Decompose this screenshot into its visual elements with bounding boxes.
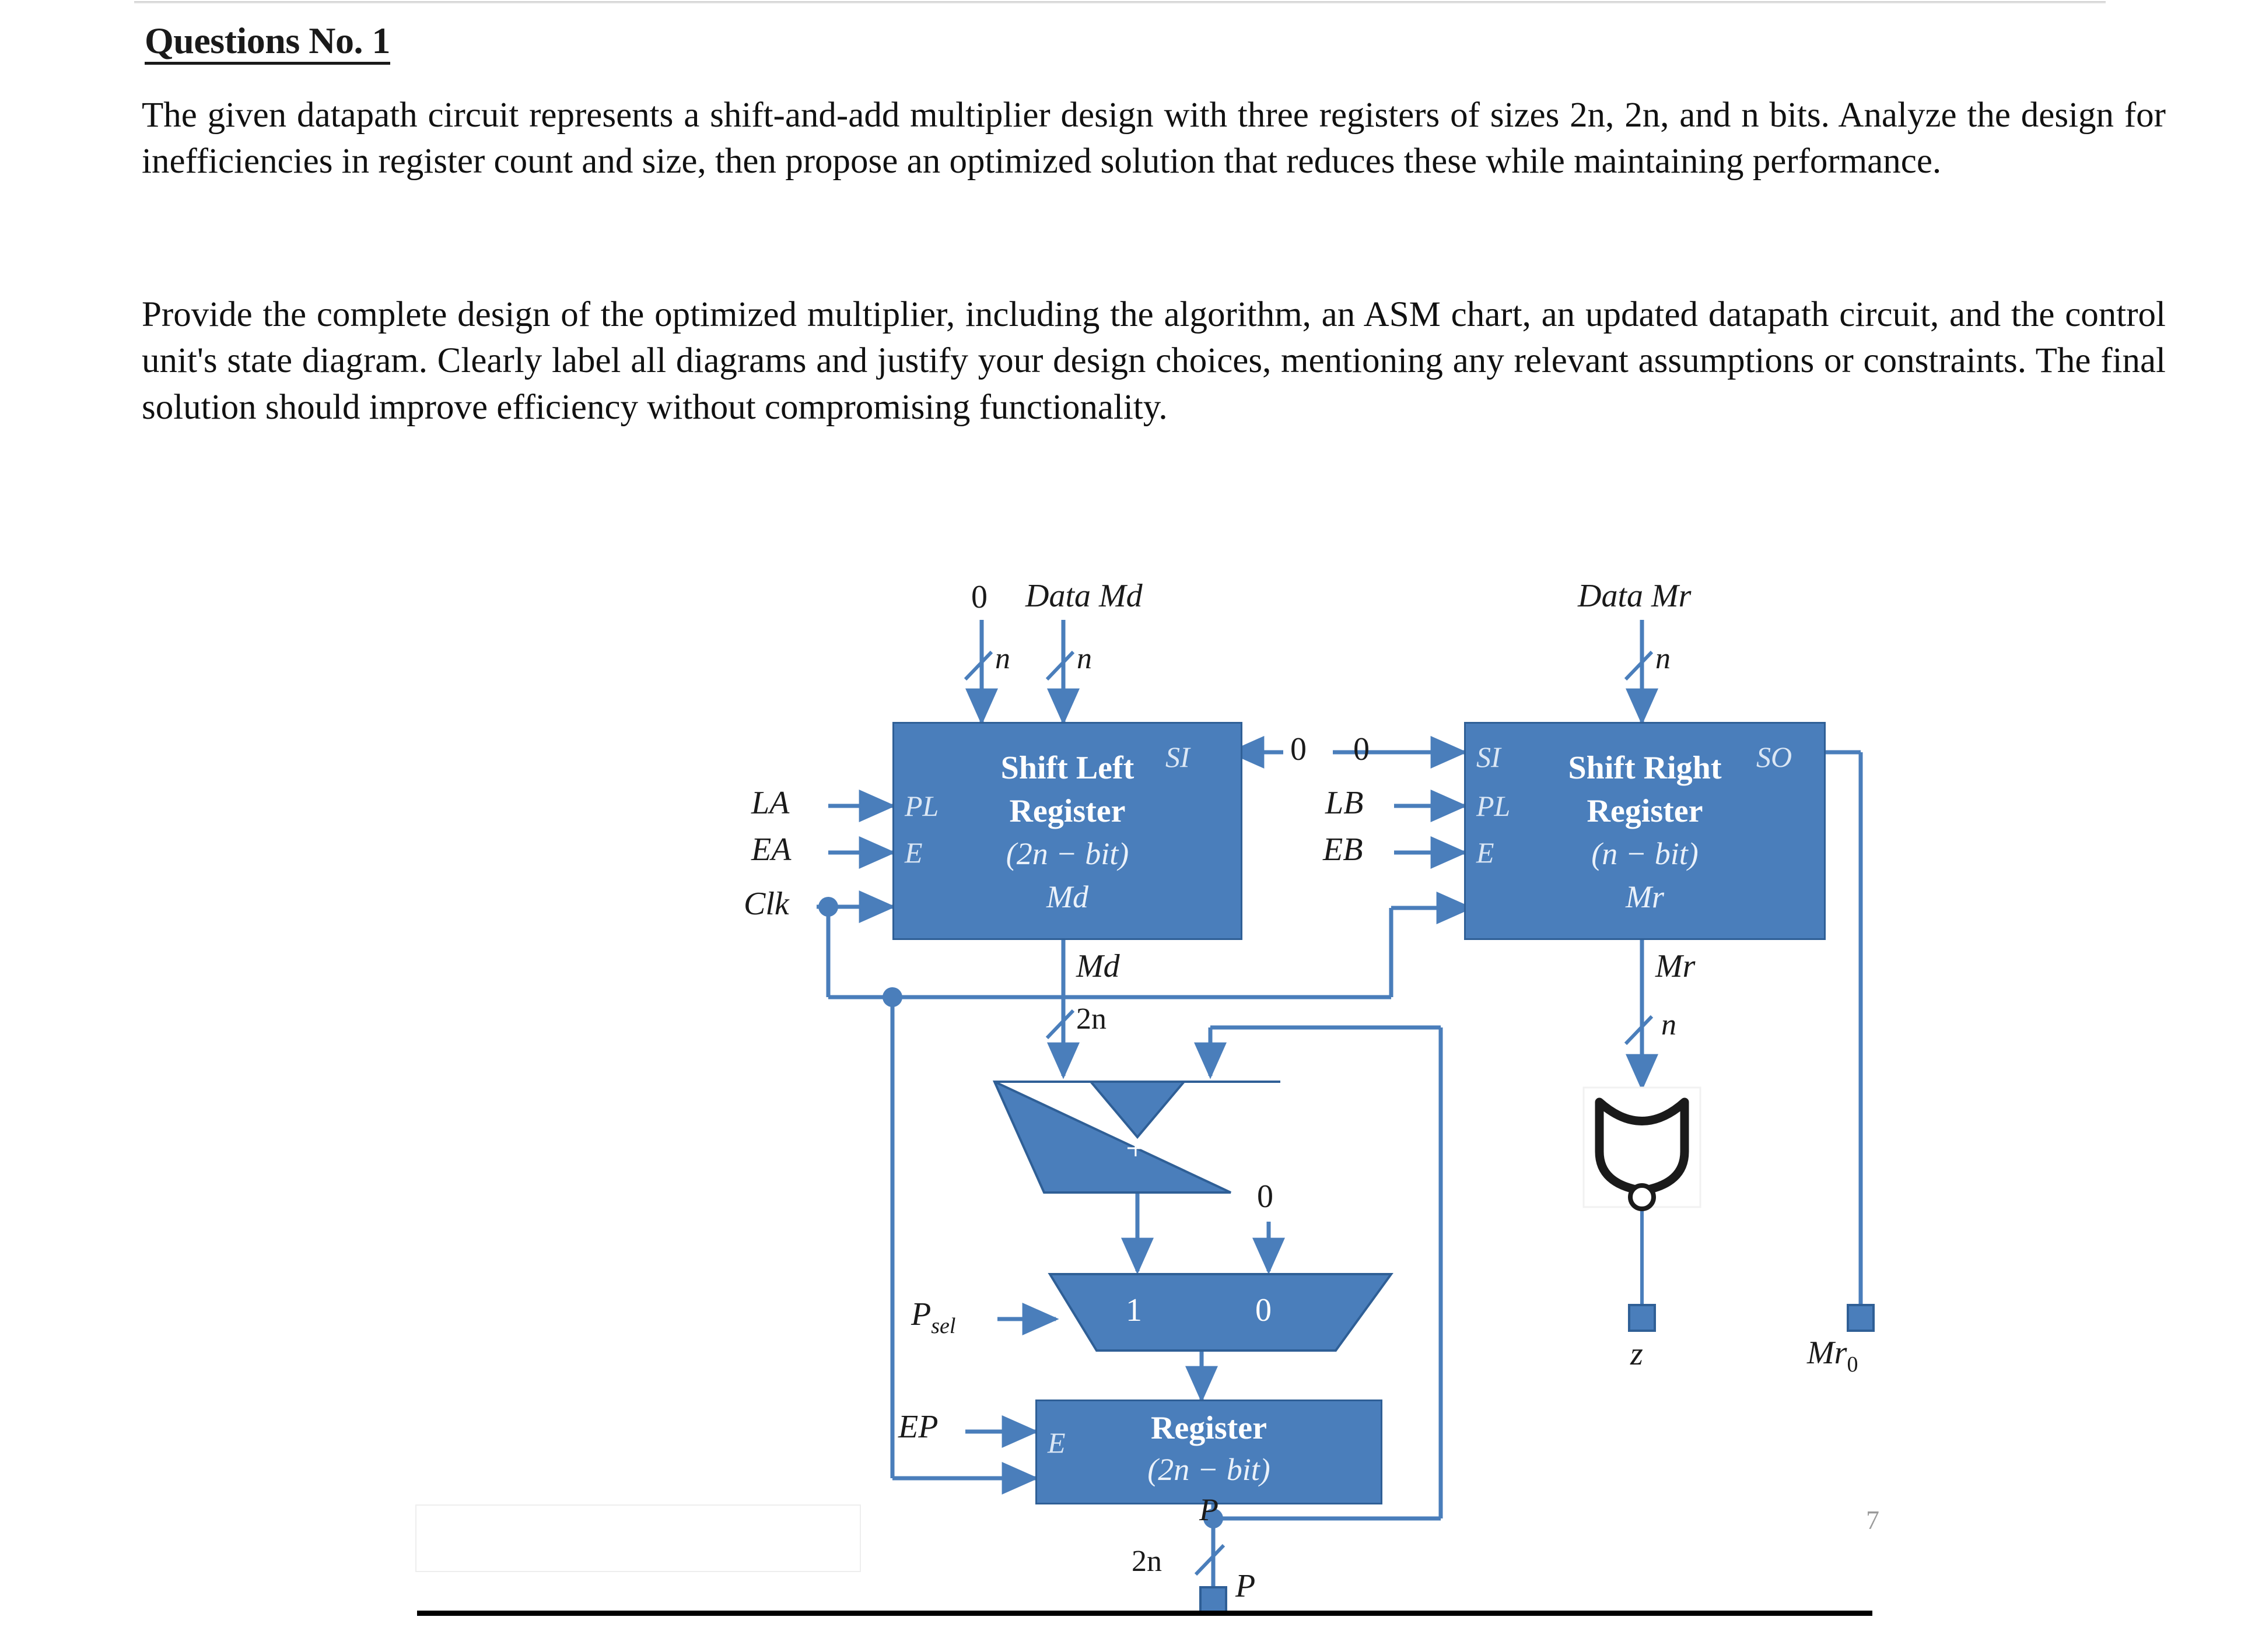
label-n-zero: n <box>995 641 1010 676</box>
shift-left-register-name: Md <box>894 879 1241 915</box>
product-register-port-e: E <box>1048 1426 1066 1460</box>
label-la: LA <box>751 784 789 822</box>
bus-slash-data-md <box>1047 652 1073 679</box>
adder-plus-symbol: + <box>1126 1128 1146 1169</box>
terminal-mr0 <box>1848 1305 1874 1331</box>
bus-slash-p-2n <box>1196 1545 1224 1574</box>
product-register-size: (2n − bit) <box>1037 1451 1381 1488</box>
label-psel-base: P <box>911 1296 931 1332</box>
label-mr-bus: Mr <box>1655 948 1695 985</box>
mux-input-1: 1 <box>1126 1292 1142 1329</box>
label-zero-si-right: 0 <box>1353 731 1370 768</box>
shift-left-register-title-2: Register <box>894 792 1241 830</box>
shift-left-register-block[interactable]: Shift Left Register (2n − bit) Md SI PL … <box>892 722 1242 940</box>
label-mr0-subscript: 0 <box>1847 1352 1858 1377</box>
label-data-md: Data Md <box>1025 577 1143 615</box>
page-bottom-rule <box>417 1611 1872 1616</box>
label-n-mr: n <box>1655 641 1671 676</box>
page-title: Questions No. 1 <box>145 22 390 65</box>
label-z-out: z <box>1630 1335 1643 1373</box>
junction-dot-clk-bus <box>883 987 902 1007</box>
shift-right-register-name: Mr <box>1466 879 1824 915</box>
question-paragraph-1: The given datapath circuit represents a … <box>142 92 2166 185</box>
shift-right-register-size: (n − bit) <box>1466 836 1824 872</box>
mux-shape <box>1050 1274 1391 1351</box>
label-psel-subscript: sel <box>931 1314 955 1338</box>
shift-right-register-port-pl: PL <box>1476 789 1510 823</box>
question-paragraph-2: Provide the complete design of the optim… <box>142 292 2166 430</box>
bus-slash-zero <box>965 652 992 679</box>
nor-gate-icon <box>1584 1088 1700 1209</box>
label-mr0-base: Mr <box>1807 1335 1847 1371</box>
shift-left-register-port-si: SI <box>1165 740 1190 774</box>
label-lb: LB <box>1325 784 1363 822</box>
product-register-name: P <box>1037 1492 1381 1528</box>
shift-right-register-port-si: SI <box>1476 740 1501 774</box>
shift-right-register-block[interactable]: Shift Right Register (n − bit) Mr SI SO … <box>1464 722 1826 940</box>
shift-right-register-port-e: E <box>1476 836 1494 869</box>
terminal-p <box>1200 1587 1226 1613</box>
label-zero-mux: 0 <box>1257 1178 1273 1215</box>
product-register-block[interactable]: Register (2n − bit) P E <box>1035 1400 1382 1504</box>
label-clk: Clk <box>744 885 789 923</box>
label-psel: Psel <box>911 1296 955 1339</box>
shift-left-register-port-e: E <box>905 836 923 869</box>
label-md-bus: Md <box>1076 948 1120 985</box>
mux-input-0: 0 <box>1255 1292 1272 1329</box>
label-2n-md: 2n <box>1076 1002 1107 1036</box>
terminal-z <box>1629 1305 1655 1331</box>
shift-left-register-size: (2n − bit) <box>894 836 1241 872</box>
label-ep: EP <box>898 1408 938 1446</box>
label-eb: EB <box>1323 831 1363 868</box>
label-p-out: P <box>1235 1567 1255 1605</box>
empty-textbox-artifact[interactable] <box>415 1504 861 1572</box>
shift-right-register-port-so: SO <box>1756 740 1792 774</box>
label-ea: EA <box>751 831 791 868</box>
bus-slash-data-mr <box>1626 652 1652 679</box>
junction-dot-clk <box>818 897 838 917</box>
bus-slash-md-2n <box>1047 1011 1073 1038</box>
label-zero-left: 0 <box>971 578 988 616</box>
product-register-title: Register <box>1037 1409 1381 1447</box>
label-2n-p: 2n <box>1132 1544 1162 1579</box>
label-zero-si-left: 0 <box>1290 731 1307 768</box>
shift-left-register-port-pl: PL <box>905 789 939 823</box>
label-n-md: n <box>1077 641 1092 676</box>
page-top-rule <box>134 1 2106 3</box>
shift-right-register-title-2: Register <box>1466 792 1824 830</box>
bus-slash-mr-n <box>1626 1016 1652 1044</box>
label-mr0-out: Mr0 <box>1807 1334 1858 1377</box>
page-number: 7 <box>1866 1504 1879 1535</box>
label-n-mr-bus: n <box>1661 1008 1676 1042</box>
label-data-mr: Data Mr <box>1578 577 1691 615</box>
document-page: Questions No. 1 The given datapath circu… <box>0 0 2241 1652</box>
